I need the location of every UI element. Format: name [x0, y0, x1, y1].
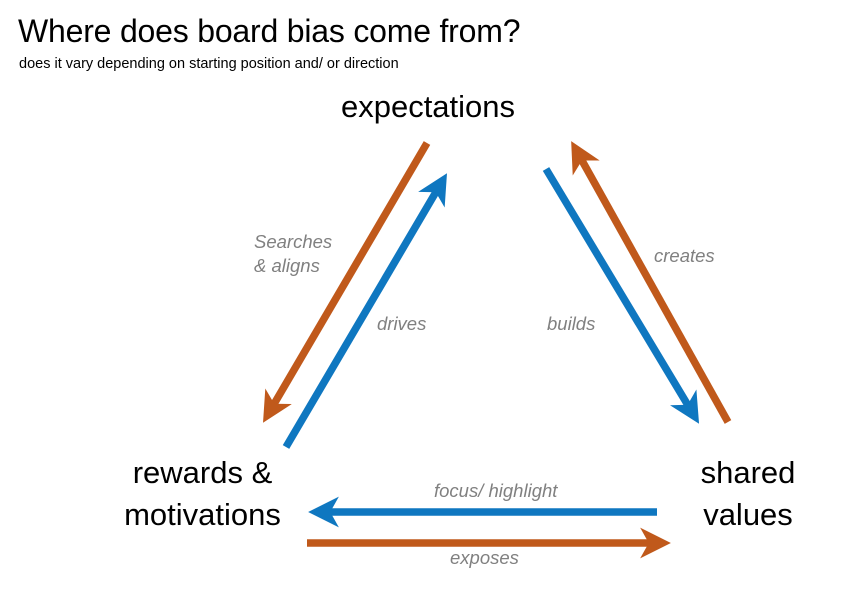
node-shared-line2: values	[640, 494, 856, 536]
arrow-creates	[575, 148, 728, 422]
node-shared-line1: shared	[640, 452, 856, 494]
edge-label-searches-aligns-line1: Searches	[254, 230, 332, 254]
node-expectations-label: expectations	[341, 89, 515, 124]
arrow-searches-aligns	[267, 143, 427, 416]
edge-label-searches-aligns-line2: & aligns	[254, 254, 332, 278]
edge-label-searches-aligns: Searches & aligns	[254, 230, 332, 278]
node-shared-values[interactable]: shared values	[640, 452, 856, 536]
node-rewards-line1: rewards &	[0, 452, 405, 494]
slide-canvas: Where does board bias come from? does it…	[0, 0, 856, 590]
edge-label-creates: creates	[654, 244, 715, 268]
edge-label-exposes: exposes	[450, 546, 519, 570]
arrow-builds	[546, 169, 695, 417]
node-rewards-motivations[interactable]: rewards & motivations	[0, 452, 405, 536]
edge-label-builds: builds	[547, 312, 595, 336]
node-rewards-line2: motivations	[0, 494, 405, 536]
node-expectations[interactable]: expectations	[0, 86, 856, 128]
edge-label-drives: drives	[377, 312, 426, 336]
edge-label-focus-highlight: focus/ highlight	[434, 479, 557, 503]
